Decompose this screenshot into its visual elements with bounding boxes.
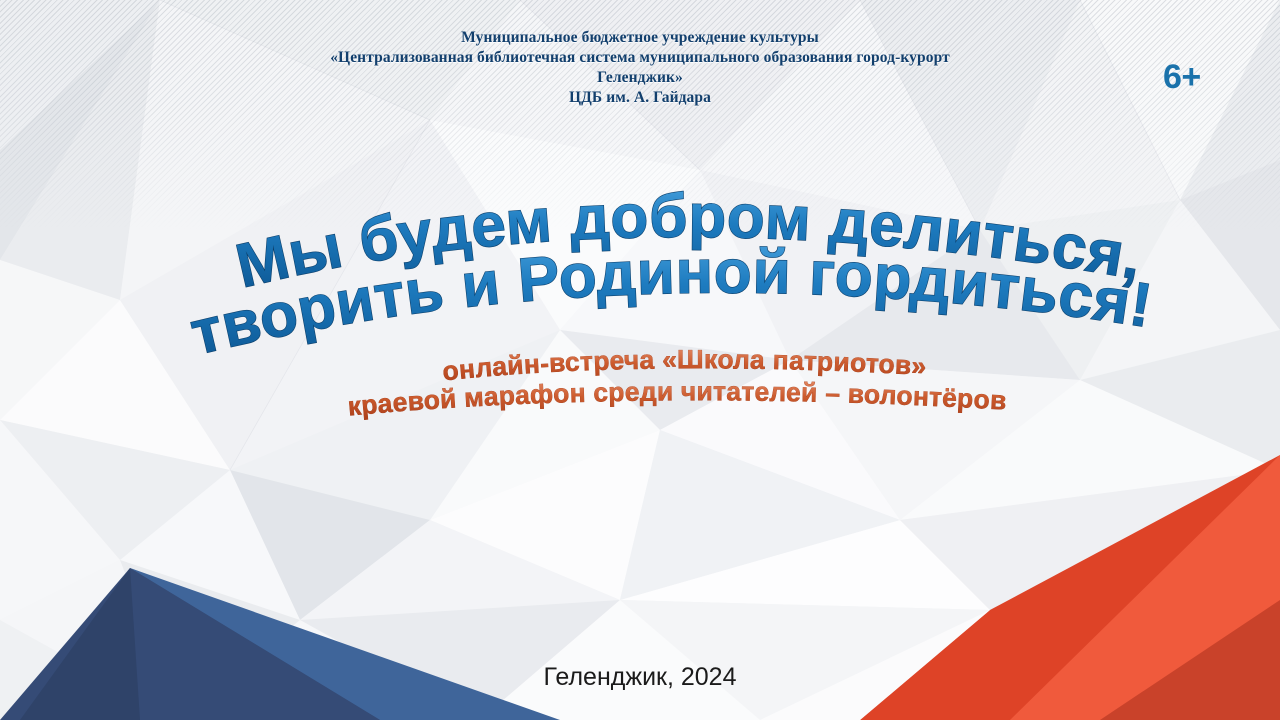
title-block: Мы будем добром делиться, творить и Роди…: [0, 168, 1280, 338]
org-header-line-4: ЦДБ им. А. Гайдара: [260, 88, 1020, 108]
org-header-line-3: Геленджик»: [260, 68, 1020, 88]
org-header-line-1: Муниципальное бюджетное учреждение культ…: [260, 28, 1020, 48]
organization-header: Муниципальное бюджетное учреждение культ…: [260, 28, 1020, 108]
footer-place-year: Геленджик, 2024: [0, 662, 1280, 692]
org-header-line-2: «Централизованная библиотечная система м…: [260, 48, 1020, 68]
age-rating-badge: 6+: [1163, 58, 1201, 96]
subtitle-block: онлайн-встреча «Школа патриотов» краевой…: [0, 336, 1280, 426]
slide-canvas: Муниципальное бюджетное учреждение культ…: [0, 0, 1280, 720]
